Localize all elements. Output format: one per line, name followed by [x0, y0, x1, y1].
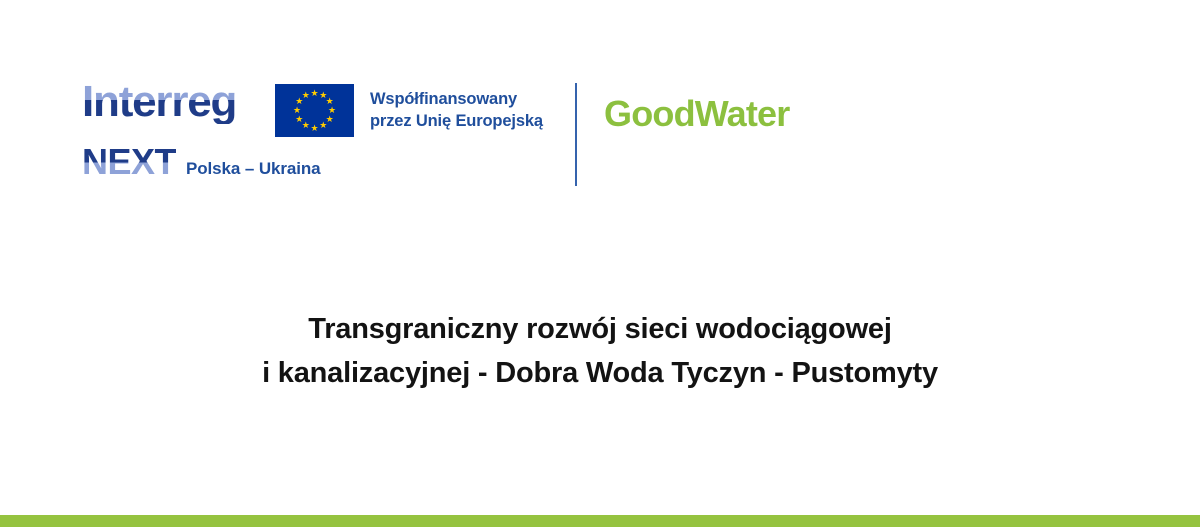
eu-star-icon: ★ [293, 106, 302, 115]
eu-cofunding-line-2: przez Unię Europejską [370, 111, 543, 133]
goodwater-logo: GoodWater [604, 96, 789, 132]
page-title-line-2: i kanalizacyjnej - Dobra Woda Tyczyn - P… [0, 351, 1200, 395]
eu-star-icon: ★ [301, 91, 310, 100]
green-accent-bar [0, 515, 1200, 527]
page-title: Transgraniczny rozwój sieci wodociągowej… [0, 307, 1200, 395]
eu-flag-icon: ★★★★★★★★★★★★ [275, 84, 354, 137]
eu-cofunding-line-1: Współfinansowany [370, 89, 543, 111]
logo-band: Interreg NEXT Polska – Ukraina ★★★★★★★★★… [0, 0, 1200, 200]
interreg-countries-label: Polska – Ukraina [186, 160, 320, 180]
eu-cofunding-block: ★★★★★★★★★★★★ Współfinansowany przez Unię… [275, 84, 543, 137]
page-title-line-1: Transgraniczny rozwój sieci wodociągowej [0, 307, 1200, 351]
interreg-wordmark: Interreg [82, 80, 236, 124]
eu-star-icon: ★ [319, 121, 328, 130]
eu-star-icon: ★ [310, 124, 319, 133]
vertical-divider [575, 83, 577, 186]
eu-cofunding-text: Współfinansowany przez Unię Europejską [370, 89, 543, 133]
eu-star-icon: ★ [295, 115, 304, 124]
interreg-next-row: NEXT Polska – Ukraina [82, 144, 321, 180]
eu-star-icon: ★ [310, 89, 319, 98]
next-wordmark: NEXT [82, 144, 176, 180]
